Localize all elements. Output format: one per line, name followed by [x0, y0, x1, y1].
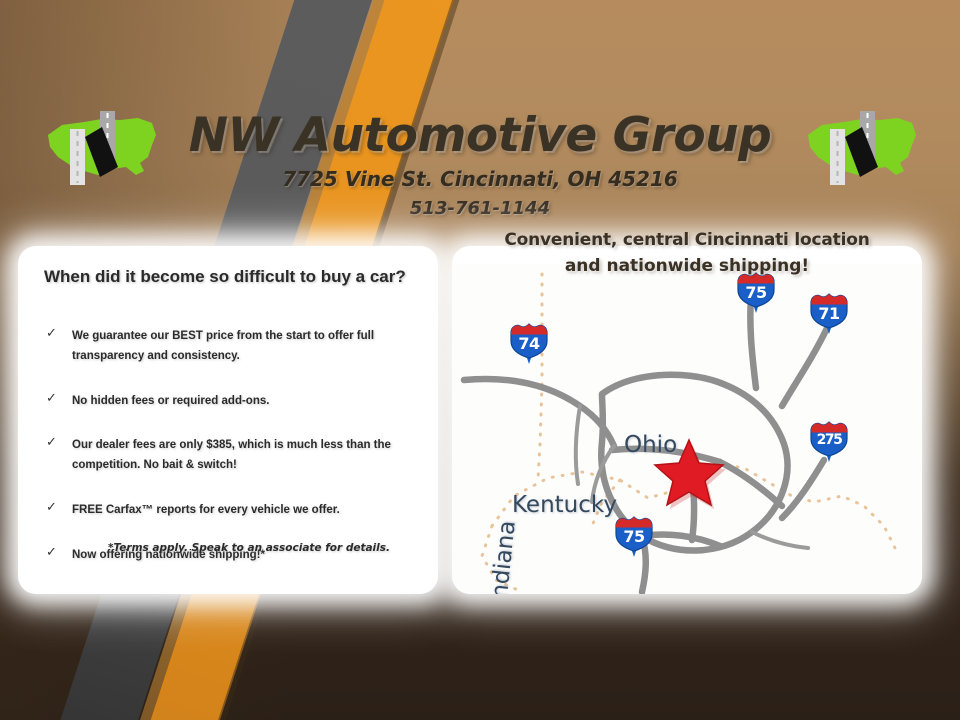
shield-i75-south[interactable]: 75 — [613, 514, 655, 558]
shield-i275[interactable]: 275 — [808, 419, 850, 463]
usa-map-road-n-logo-icon — [800, 105, 920, 185]
shield-route-number: 75 — [735, 283, 777, 302]
checkmark-icon: ✓ — [46, 325, 57, 341]
header: NW Automotive Group 7725 Vine St. Cincin… — [0, 0, 960, 240]
brand-phone[interactable]: 513-761-1144 — [0, 198, 960, 219]
list-item-label: We guarantee our BEST price from the sta… — [72, 330, 374, 362]
state-label-ohio: Ohio — [624, 432, 677, 458]
shield-i74[interactable]: 74 — [508, 321, 550, 365]
panel-heading: When did it become so difficult to buy a… — [44, 266, 414, 289]
shield-route-number: 75 — [613, 527, 655, 546]
map-heading-line1: Convenient, central Cincinnati location — [452, 228, 922, 254]
list-item: ✓ Our dealer fees are only $385, which i… — [42, 435, 420, 475]
checkmark-icon: ✓ — [46, 390, 57, 406]
list-item: ✓ FREE Carfax™ reports for every vehicle… — [42, 500, 420, 520]
map-heading: Convenient, central Cincinnati location … — [452, 228, 922, 279]
list-item: ✓ We guarantee our BEST price from the s… — [42, 326, 420, 366]
logo-right — [800, 105, 920, 185]
list-item-label: Our dealer fees are only $385, which is … — [72, 439, 391, 471]
list-item-label: No hidden fees or required add-ons. — [72, 395, 269, 407]
terms-disclaimer: *Terms apply. Speak to an associate for … — [18, 542, 438, 554]
shield-i71[interactable]: 71 — [808, 291, 850, 335]
location-map-panel: Convenient, central Cincinnati location … — [452, 246, 922, 594]
list-item-label: FREE Carfax™ reports for every vehicle w… — [72, 504, 340, 516]
value-proposition-panel: When did it become so difficult to buy a… — [18, 246, 438, 594]
map-canvas[interactable]: Indiana Ohio Kentucky 75 71 — [452, 246, 922, 594]
map-heading-line2: and nationwide shipping! — [452, 254, 922, 280]
shield-route-number: 74 — [508, 334, 550, 353]
shield-route-number: 71 — [808, 304, 850, 323]
map-graphic — [452, 264, 922, 594]
list-item: ✓ No hidden fees or required add-ons. — [42, 391, 420, 411]
checkmark-icon: ✓ — [46, 434, 57, 450]
state-label-kentucky: Kentucky — [512, 492, 617, 518]
shield-route-number: 275 — [808, 432, 850, 448]
checkmark-icon: ✓ — [46, 499, 57, 515]
